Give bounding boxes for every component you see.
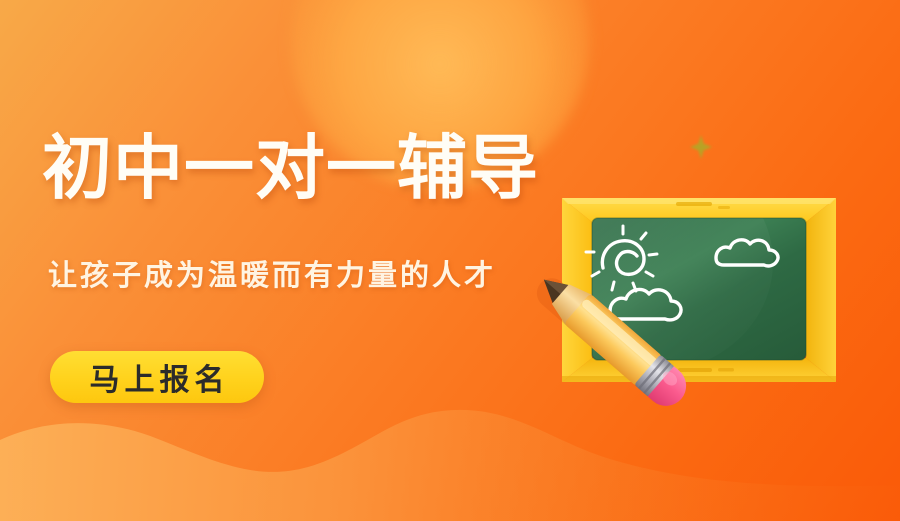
star-sparkle-icon	[688, 134, 714, 160]
frame-notch-top	[676, 202, 712, 206]
page-subtitle: 让孩子成为温暖而有力量的人才	[48, 262, 496, 291]
pencil-illustration	[516, 268, 706, 408]
promo-banner: 初中一对一辅导 让孩子成为温暖而有力量的人才 马上报名	[0, 0, 900, 521]
page-title: 初中一对一辅导	[42, 133, 539, 203]
pencil-svg	[516, 268, 706, 408]
signup-now-button[interactable]: 马上报名	[50, 351, 264, 403]
bottom-wave-decoration	[0, 397, 900, 521]
